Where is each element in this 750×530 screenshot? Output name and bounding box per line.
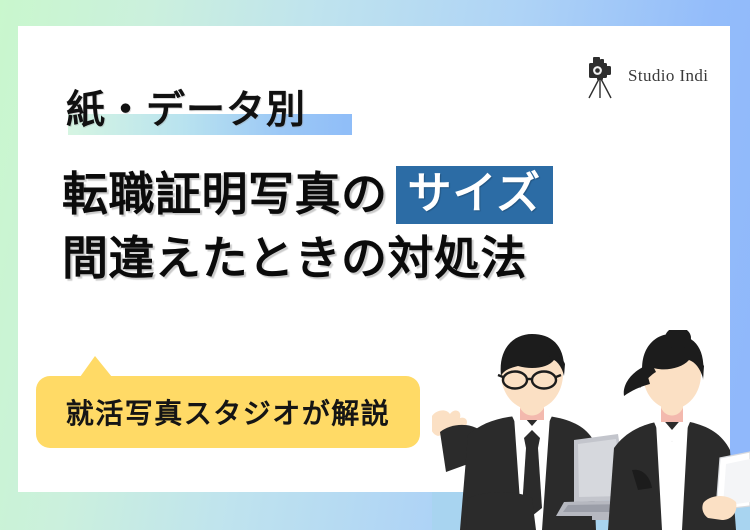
headline-line-2: 間違えたときの対処法 [62,232,672,285]
headline-line-1-prefix: 転職証明写真の [62,168,388,221]
eyebrow-text: 紙・データ別 [66,79,306,135]
logo-wordmark: Studio Indi [628,66,708,86]
camera-tripod-icon [580,53,620,99]
eyebrow-heading: 紙・データ別 [66,76,306,138]
headline-line-2-text: 間違えたときの対処法 [62,232,527,285]
two-business-people-illustration [432,330,750,530]
speech-bubble-tail-icon [80,356,112,377]
headline-keyword-chip: サイズ [396,166,554,224]
headline-line-1: 転職証明写真の サイズ [62,166,672,224]
studio-indi-logo[interactable]: Studio Indi [580,52,710,100]
page-title: 転職証明写真の サイズ 間違えたときの対処法 [62,166,672,285]
speech-bubble: 就活写真スタジオが解説 [36,376,420,448]
speech-bubble-text: 就活写真スタジオが解説 [66,392,391,432]
